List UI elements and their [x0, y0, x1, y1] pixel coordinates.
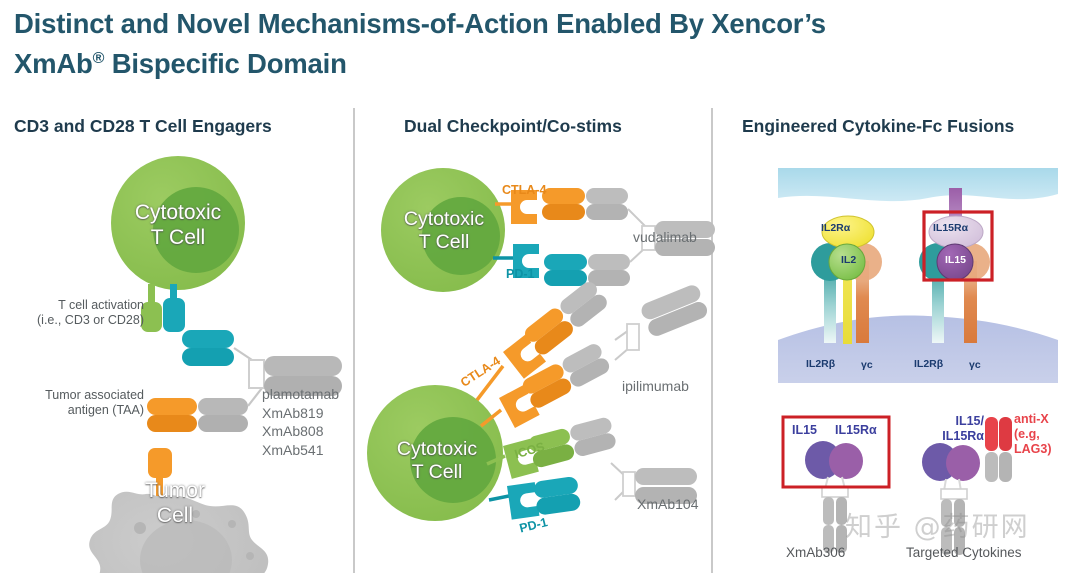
pd1-stem-bottom — [489, 496, 509, 500]
cd28-receptor-domain — [163, 298, 185, 332]
hinge-region — [249, 360, 264, 388]
ctla4-label-top: CTLA-4 — [502, 183, 546, 197]
taa-line2: antigen (TAA) — [8, 403, 144, 418]
il15ra-moiety-left — [829, 443, 863, 479]
col3-membrane-diagram — [778, 168, 1058, 383]
pd1-label-top: PD-1 — [506, 267, 534, 281]
cytotoxic-t-cell-nucleus-bottom — [410, 417, 496, 503]
presenting-cell-surface — [778, 168, 1058, 201]
page-title: Distinct and Novel Mechanisms-of-Action … — [14, 6, 1054, 81]
il15ra-label-fusion-left: IL15Rα — [835, 423, 877, 437]
anti-pd1-vl-top — [544, 270, 587, 286]
activation-line1: T cell activation — [18, 298, 144, 313]
slide-root: Distinct and Novel Mechanisms-of-Action … — [0, 0, 1080, 573]
ctla4-arm-linker-top — [628, 209, 645, 226]
anti-ctla4-cl-top — [586, 204, 628, 220]
product-vudalimab: vudalimab — [633, 229, 697, 245]
il2rb-label-right: IL2Rβ — [914, 358, 943, 370]
anti-pd1-cl-top — [588, 270, 630, 286]
activation-line2: (i.e., CD3 or CD28) — [18, 313, 144, 328]
cd3-receptor-domain — [141, 302, 162, 332]
gammac-label-left: γc — [861, 359, 873, 371]
tumor-granule — [228, 520, 236, 528]
il15-label: IL15 — [945, 254, 966, 266]
fusion-right-line2: IL15Rα — [920, 429, 984, 444]
anti-x-label: anti-X (e.g, LAG3) — [1014, 412, 1080, 457]
col1-diagram — [0, 108, 353, 573]
fc-ch2-right-a — [941, 499, 952, 527]
hinge-region-xmab104 — [623, 472, 635, 496]
product-xmab819: XmAb819 — [262, 404, 339, 423]
title-line-1: Distinct and Novel Mechanisms-of-Action … — [14, 6, 1054, 41]
il2ra-label: IL2Rα — [821, 222, 850, 234]
caption-xmab306: XmAb306 — [786, 545, 845, 560]
anti-cd3-vl-domain — [182, 348, 234, 366]
anti-taa-vl-domain — [147, 415, 197, 432]
product-plamotamab: plamotamab — [262, 385, 339, 404]
product-xmab541: XmAb541 — [262, 441, 339, 460]
anti-x-cl — [999, 452, 1012, 482]
il2rb-label-left: IL2Rβ — [806, 358, 835, 370]
title-line-2-rest: Bispecific Domain — [104, 48, 346, 79]
fc-ch2-xmab104 — [635, 468, 697, 485]
il2-label: IL2 — [841, 254, 856, 266]
il15ra-label: IL15Rα — [933, 222, 968, 234]
anti-pd1-vh-top — [544, 254, 587, 270]
taa-label: Tumor associated antigen (TAA) — [8, 388, 144, 418]
tumor-granule — [246, 552, 254, 560]
cytotoxic-t-cell-nucleus-top — [422, 197, 500, 275]
fc-ch2-left-b — [836, 497, 847, 525]
anti-taa-ch1-domain — [198, 398, 248, 415]
anti-pd1-ch1-top — [588, 254, 630, 270]
lower-arm-linker — [248, 388, 262, 406]
title-line-2: XmAb® Bispecific Domain — [14, 41, 1054, 81]
taa-antigen-stem — [156, 476, 163, 498]
upper-arm-linker — [234, 348, 252, 360]
caption-targeted-cytokines: Targeted Cytokines — [906, 545, 1022, 560]
taa-line1: Tumor associated — [8, 388, 144, 403]
hinge-region-ipilimumab — [627, 324, 639, 350]
anti-ctla4-vl-top — [542, 204, 585, 220]
hinge-right — [941, 489, 967, 499]
taa-antigen-domain — [148, 448, 172, 478]
gammac-label-right: γc — [969, 359, 981, 371]
fusion-right-line1: IL15/ — [920, 414, 984, 429]
antix-line1: anti-X — [1014, 412, 1080, 427]
anti-x-vh — [985, 417, 998, 451]
anti-taa-vh-domain — [147, 398, 197, 415]
t-cell-activation-label: T cell activation (i.e., CD3 or CD28) — [18, 298, 144, 328]
anti-x-ch1 — [985, 452, 998, 482]
col1-product-list: plamotamab XmAb819 XmAb808 XmAb541 — [262, 385, 339, 459]
antix-line2: (e.g, LAG3) — [1014, 427, 1080, 457]
anti-ctla4-vh-top — [542, 188, 585, 204]
registered-mark-icon: ® — [93, 50, 105, 67]
product-xmab104: XmAb104 — [637, 496, 698, 512]
anti-cd3-vh-domain — [182, 330, 234, 348]
tumor-granule — [134, 522, 146, 534]
il15-label-fusion-left: IL15 — [792, 423, 817, 437]
anti-ctla4-ch1-top — [586, 188, 628, 204]
tumor-granule — [192, 510, 200, 518]
fc-ch2-upper — [264, 356, 342, 376]
fc-ch2-right-b — [954, 499, 965, 527]
column-header-cytokine: Engineered Cytokine-Fc Fusions — [742, 116, 1014, 137]
il15ra-moiety-right — [946, 445, 980, 481]
product-xmab808: XmAb808 — [262, 422, 339, 441]
anti-x-vl — [999, 417, 1012, 451]
cytotoxic-t-cell-nucleus — [153, 187, 239, 273]
product-ipilimumab: ipilimumab — [622, 378, 689, 394]
anti-taa-cl-domain — [198, 415, 248, 432]
il15-il15ra-label-fusion-right: IL15/ IL15Rα — [920, 414, 984, 444]
title-xmab: XmAb — [14, 48, 93, 79]
fc-ch2-left-a — [823, 497, 834, 525]
column-divider-2 — [711, 108, 713, 573]
